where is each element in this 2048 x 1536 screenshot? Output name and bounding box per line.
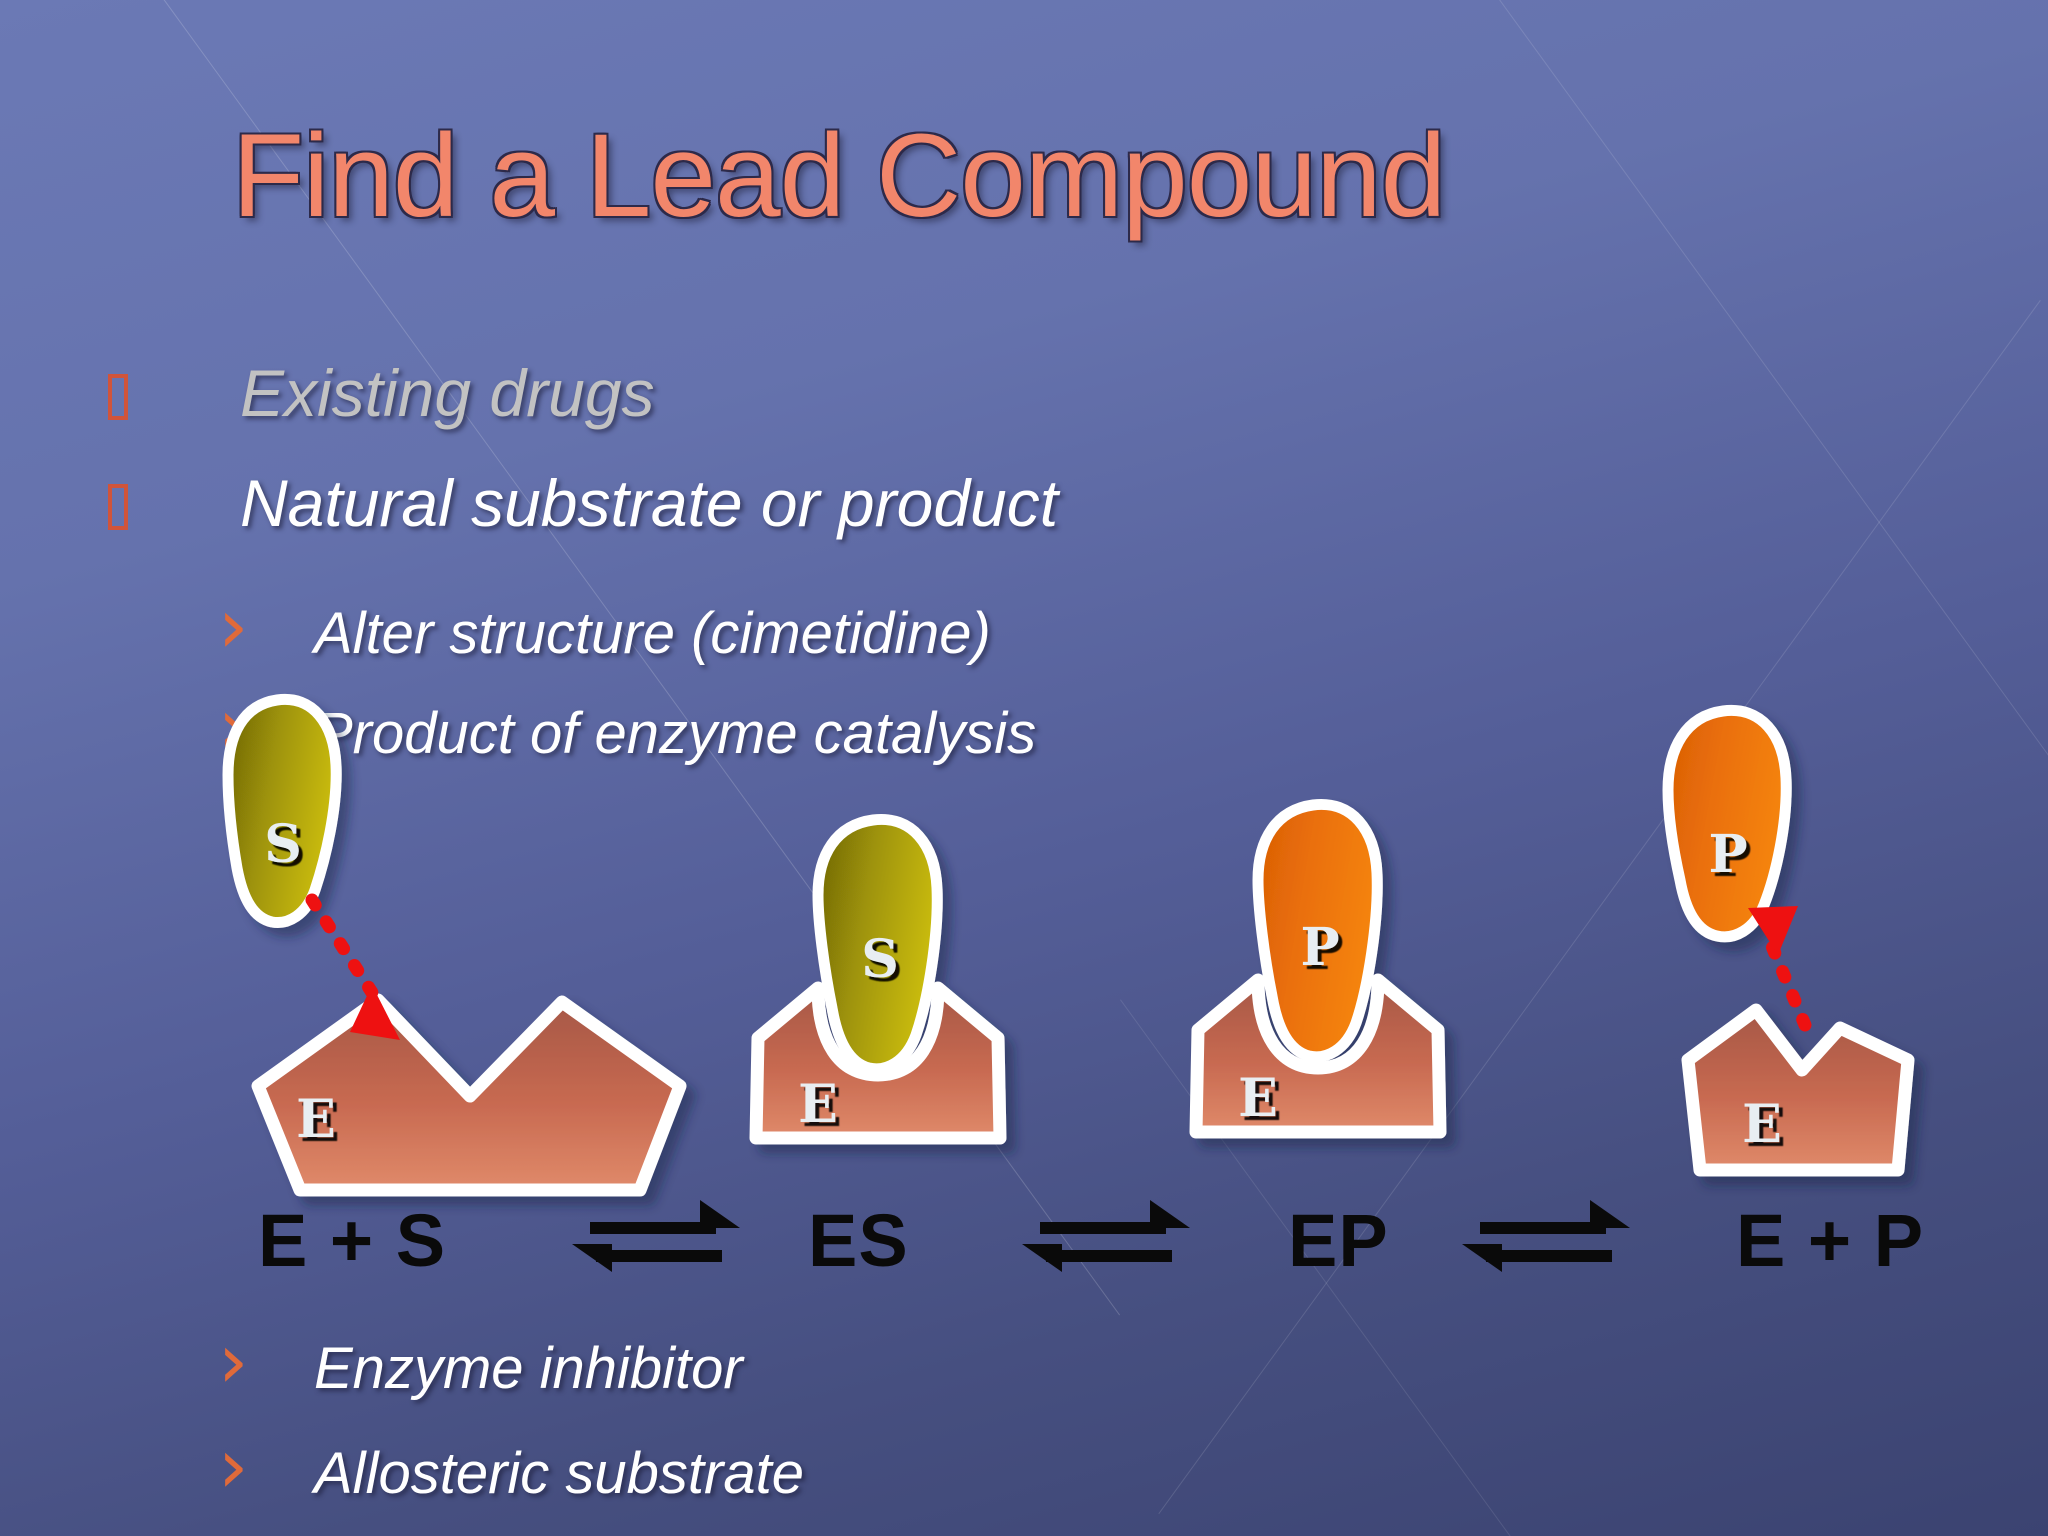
red-dotted-arrow-up-out-of-active-site xyxy=(1748,906,1805,1025)
reaction-equation-row: E + S ES EP E + P xyxy=(0,1188,2048,1298)
enzyme-label: E xyxy=(1742,1094,1782,1155)
enzyme-label: E xyxy=(798,1074,838,1135)
chevron-right-icon xyxy=(218,714,252,758)
subbullet-item-product-of-enzyme-catalysis[interactable]: Product of enzyme catalysis xyxy=(218,700,1036,767)
enzyme-label: E xyxy=(296,1089,336,1150)
product-shape xyxy=(1258,804,1377,1056)
tofu-box-bullet-icon xyxy=(108,374,128,420)
decorative-diagonal-line xyxy=(1470,0,2048,1536)
tofu-box-bullet-icon xyxy=(108,484,128,530)
slide-canvas: Find a Lead Compound Existing drugs Natu… xyxy=(0,0,2048,1536)
subbullet-label: Alter structure (cimetidine) xyxy=(314,600,991,667)
equation-label-e-plus-p: E + P xyxy=(1736,1198,1924,1283)
product-label: P xyxy=(1708,824,1747,885)
subbullet-item-enzyme-inhibitor[interactable]: Enzyme inhibitor xyxy=(218,1335,743,1402)
diagram-stage-ep: P E xyxy=(1196,804,1440,1132)
equation-label-e-plus-s: E + S xyxy=(258,1198,446,1283)
equation-label-ep: EP xyxy=(1288,1198,1389,1283)
subbullet-label: Allosteric substrate xyxy=(314,1440,804,1507)
equation-label-es: ES xyxy=(808,1198,909,1283)
red-dotted-arrow-down-into-active-site xyxy=(312,900,400,1040)
subbullet-item-allosteric-substrate[interactable]: Allosteric substrate xyxy=(218,1440,804,1507)
decorative-diagonal-line xyxy=(1158,300,2040,1514)
chevron-right-icon xyxy=(218,1349,252,1393)
bullet-item-existing-drugs[interactable]: Existing drugs xyxy=(108,360,655,426)
bullet-item-natural-substrate[interactable]: Natural substrate or product xyxy=(108,470,1058,536)
enzyme-shape xyxy=(258,1000,680,1190)
chevron-right-icon xyxy=(218,1454,252,1498)
subbullet-item-alter-structure[interactable]: Alter structure (cimetidine) xyxy=(218,600,991,667)
slide-title: Find a Lead Compound xyxy=(232,108,1445,244)
substrate-shape xyxy=(818,819,937,1068)
product-shape xyxy=(1668,710,1786,936)
enzyme-shape xyxy=(1688,1010,1908,1170)
diagram-stage-es: S E xyxy=(756,819,1000,1138)
subbullet-label: Enzyme inhibitor xyxy=(314,1335,743,1402)
diagram-stage-e-plus-s: S E xyxy=(228,699,680,1190)
chevron-right-icon xyxy=(218,614,252,658)
bullet-label: Existing drugs xyxy=(240,360,655,426)
enzyme-label: E xyxy=(1238,1068,1278,1129)
substrate-label: S xyxy=(264,814,302,875)
substrate-label: S xyxy=(861,929,899,990)
subbullet-label: Product of enzyme catalysis xyxy=(314,700,1036,767)
enzyme-shape xyxy=(1196,980,1440,1132)
enzyme-shape xyxy=(756,988,1000,1138)
bullet-label: Natural substrate or product xyxy=(240,470,1058,536)
diagram-stage-e-plus-p: P E xyxy=(1668,710,1908,1170)
product-label: P xyxy=(1300,917,1339,978)
